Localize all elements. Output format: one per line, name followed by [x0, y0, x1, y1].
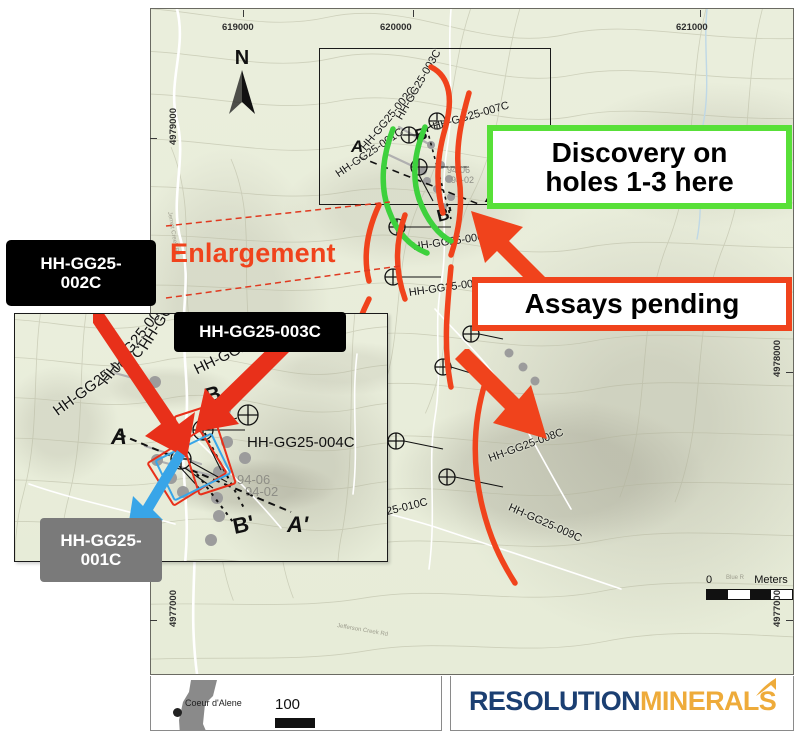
y-tick-mark-right-2 [786, 620, 793, 621]
callout-hole-003c: HH-GG25-003C [174, 312, 346, 352]
callout-discovery-line2: holes 1-3 here [545, 167, 733, 196]
logo-tagline [525, 718, 530, 731]
north-arrow-icon [225, 68, 259, 118]
north-label: N [225, 48, 259, 68]
callout-assays-pending: Assays pending [472, 277, 792, 331]
coeur-dalene-label: Coeur d'Alene [185, 698, 242, 708]
coeur-dalene-dot [173, 708, 182, 717]
x-tick-mark-3 [700, 10, 701, 17]
callout-assays-text: Assays pending [525, 288, 740, 320]
callout-002c-line1: HH-GG25- [40, 254, 121, 273]
inset-historic-94-02: 94-02 [245, 484, 278, 499]
y-tick-left-4977000: 4977000 [168, 590, 179, 627]
logo-text-resolution: RESOLUTION [469, 686, 640, 716]
y-tick-right-4978000: 4978000 [772, 340, 783, 377]
inset-dh-label-004c: HH-GG25-004C [247, 434, 355, 451]
y-tick-mark-left-2 [150, 620, 157, 621]
callout-003c-text: HH-GG25-003C [199, 322, 321, 342]
scale-min: 0 [706, 574, 712, 586]
locator-panel: Coeur d'Alene 100 [150, 676, 442, 731]
y-tick-mark-right-1 [786, 372, 793, 373]
callout-discovery-line1: Discovery on [545, 138, 733, 167]
locator-scale-bar [275, 718, 315, 728]
x-tick-621000: 621000 [676, 22, 708, 33]
locator-scale-value: 100 [275, 696, 300, 713]
inset-section-a-prime: A' [287, 512, 308, 538]
page-root: Jerrett Creek Rd Jefferson Creek Rd Blue… [0, 0, 800, 730]
x-tick-620000: 620000 [380, 22, 412, 33]
callout-001c-line2: 001C [60, 550, 141, 569]
x-tick-619000: 619000 [222, 22, 254, 33]
enlargement-title: Enlargement [170, 238, 336, 269]
north-arrow: N [225, 48, 259, 120]
y-tick-right-4977000: 4977000 [772, 590, 783, 627]
x-tick-mark-2 [413, 10, 414, 17]
callout-001c-line1: HH-GG25- [60, 531, 141, 550]
logo-swoosh-icon [754, 676, 778, 698]
callout-hole-002c: HH-GG25- 002C [6, 240, 156, 306]
callout-002c-line2: 002C [40, 273, 121, 292]
x-tick-mark-1 [243, 10, 244, 17]
callout-hole-001c: HH-GG25- 001C [40, 518, 162, 582]
y-tick-left-4979000: 4979000 [168, 108, 179, 145]
y-tick-mark-left-1 [150, 138, 157, 139]
historic-hole-94-02-main: 94-02 [451, 175, 474, 185]
scale-unit: Meters [754, 574, 788, 586]
historic-hole-94-06-main: 94-06 [447, 165, 470, 175]
company-logo: RESOLUTIONMINERALS [469, 686, 776, 717]
callout-discovery: Discovery on holes 1-3 here [487, 125, 792, 209]
section-marker-a: A [351, 137, 363, 157]
logo-panel: RESOLUTIONMINERALS [450, 676, 794, 731]
arrow-to-assays-lower [447, 349, 557, 449]
